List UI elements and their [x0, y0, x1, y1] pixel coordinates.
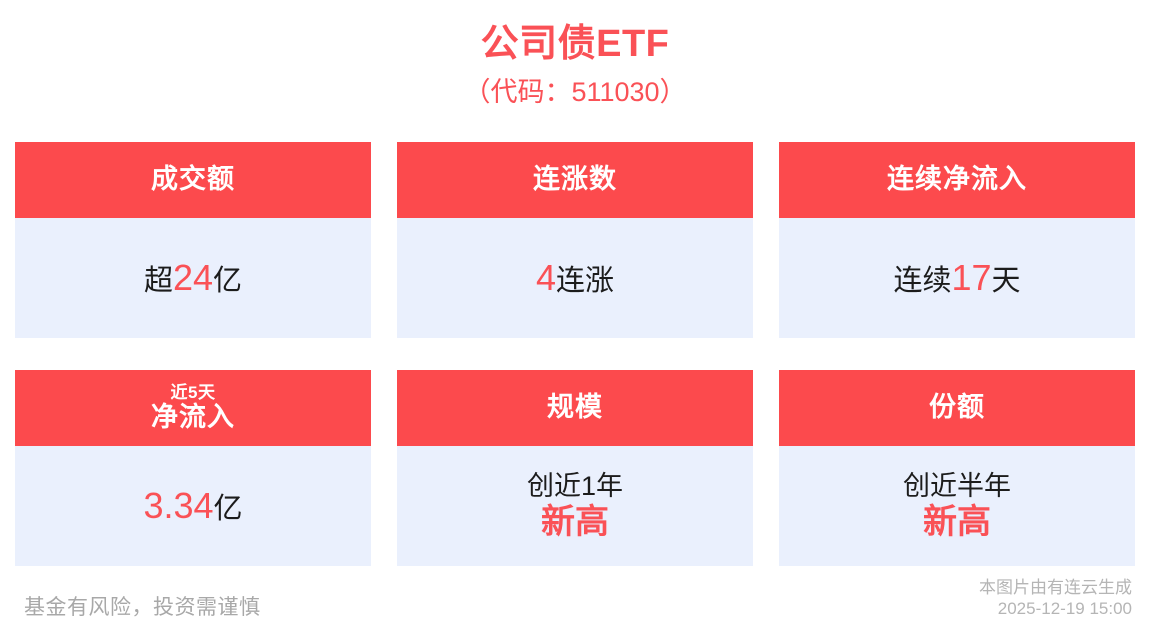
- metric-card[interactable]: 近5天净流入3.34亿: [15, 370, 371, 566]
- metric-value-segment: 亿: [213, 265, 242, 297]
- metric-card[interactable]: 成交额超24亿: [15, 142, 371, 338]
- metric-value-line: 超24亿: [144, 258, 242, 298]
- metric-card-body: 3.34亿: [15, 446, 371, 566]
- etf-summary-poster: 公司债ETF （代码：511030） 成交额超24亿连涨数4连涨连续净流入连续1…: [0, 0, 1150, 632]
- metric-value-segment: 创近半年: [903, 471, 1011, 501]
- metric-card-header: 规模: [397, 370, 753, 446]
- metric-card-header: 连续净流入: [779, 142, 1135, 218]
- metric-card-title: 成交额: [151, 165, 235, 195]
- metric-value-line: 新高: [923, 503, 991, 541]
- metric-value-segment: 超: [144, 265, 173, 297]
- metric-card-row-1: 成交额超24亿连涨数4连涨连续净流入连续17天: [15, 142, 1135, 338]
- metric-card[interactable]: 规模创近1年新高: [397, 370, 753, 566]
- metric-card-title: 连续净流入: [887, 165, 1027, 195]
- fund-code-label: （代码：511030）: [0, 75, 1150, 110]
- metric-value-line: 创近半年: [903, 471, 1011, 501]
- metric-card-body: 创近1年新高: [397, 446, 753, 566]
- metric-card-header: 份额: [779, 370, 1135, 446]
- metric-value-segment: 17: [951, 257, 991, 298]
- footer: 基金有风险，投资需谨慎 本图片由有连云生成 2025-12-19 15:00: [0, 570, 1150, 632]
- metric-value-segment: 创近1年: [527, 471, 623, 501]
- metric-value-segment: 连续: [893, 265, 951, 297]
- metric-card-body: 4连涨: [397, 218, 753, 338]
- metric-card-body: 超24亿: [15, 218, 371, 338]
- metric-card-header: 成交额: [15, 142, 371, 218]
- metric-value-segment: 24: [173, 257, 213, 298]
- metric-card-header: 近5天净流入: [15, 370, 371, 446]
- metric-value-line: 新高: [541, 503, 609, 541]
- metric-card-title: 份额: [929, 393, 985, 423]
- metric-card[interactable]: 连涨数4连涨: [397, 142, 753, 338]
- metric-card-body: 创近半年新高: [779, 446, 1135, 566]
- metric-card-title: 规模: [547, 393, 603, 423]
- metric-value-line: 连续17天: [893, 258, 1020, 298]
- metric-card-row-2: 近5天净流入3.34亿规模创近1年新高份额创近半年新高: [15, 370, 1135, 566]
- metric-value-segment: 连涨: [556, 265, 614, 297]
- metric-card[interactable]: 连续净流入连续17天: [779, 142, 1135, 338]
- metric-value-segment: 4: [536, 257, 556, 298]
- page-title: 公司债ETF: [0, 22, 1150, 66]
- metric-value-line: 4连涨: [536, 258, 614, 298]
- metric-card-header: 连涨数: [397, 142, 753, 218]
- metric-value-segment: 亿: [214, 493, 243, 525]
- footer-meta: 本图片由有连云生成 2025-12-19 15:00: [979, 577, 1132, 621]
- metric-value-line: 创近1年: [527, 471, 623, 501]
- metric-value-line: 3.34亿: [143, 486, 242, 526]
- generated-timestamp: 2025-12-19 15:00: [979, 598, 1132, 620]
- metric-card-grid: 成交额超24亿连涨数4连涨连续净流入连续17天 近5天净流入3.34亿规模创近1…: [15, 142, 1135, 566]
- metric-value-segment: 新高: [923, 503, 991, 541]
- metric-value-segment: 天: [992, 265, 1021, 297]
- metric-card-body: 连续17天: [779, 218, 1135, 338]
- image-source-label: 本图片由有连云生成: [979, 577, 1132, 599]
- metric-value-segment: 3.34: [143, 485, 213, 526]
- metric-value-segment: 新高: [541, 503, 609, 541]
- metric-card-title: 连涨数: [533, 165, 617, 195]
- risk-disclaimer: 基金有风险，投资需谨慎: [24, 595, 261, 620]
- metric-card[interactable]: 份额创近半年新高: [779, 370, 1135, 566]
- metric-card-subtitle: 近5天: [171, 383, 216, 403]
- title-block: 公司债ETF （代码：511030）: [0, 0, 1150, 110]
- metric-card-title: 净流入: [151, 403, 235, 433]
